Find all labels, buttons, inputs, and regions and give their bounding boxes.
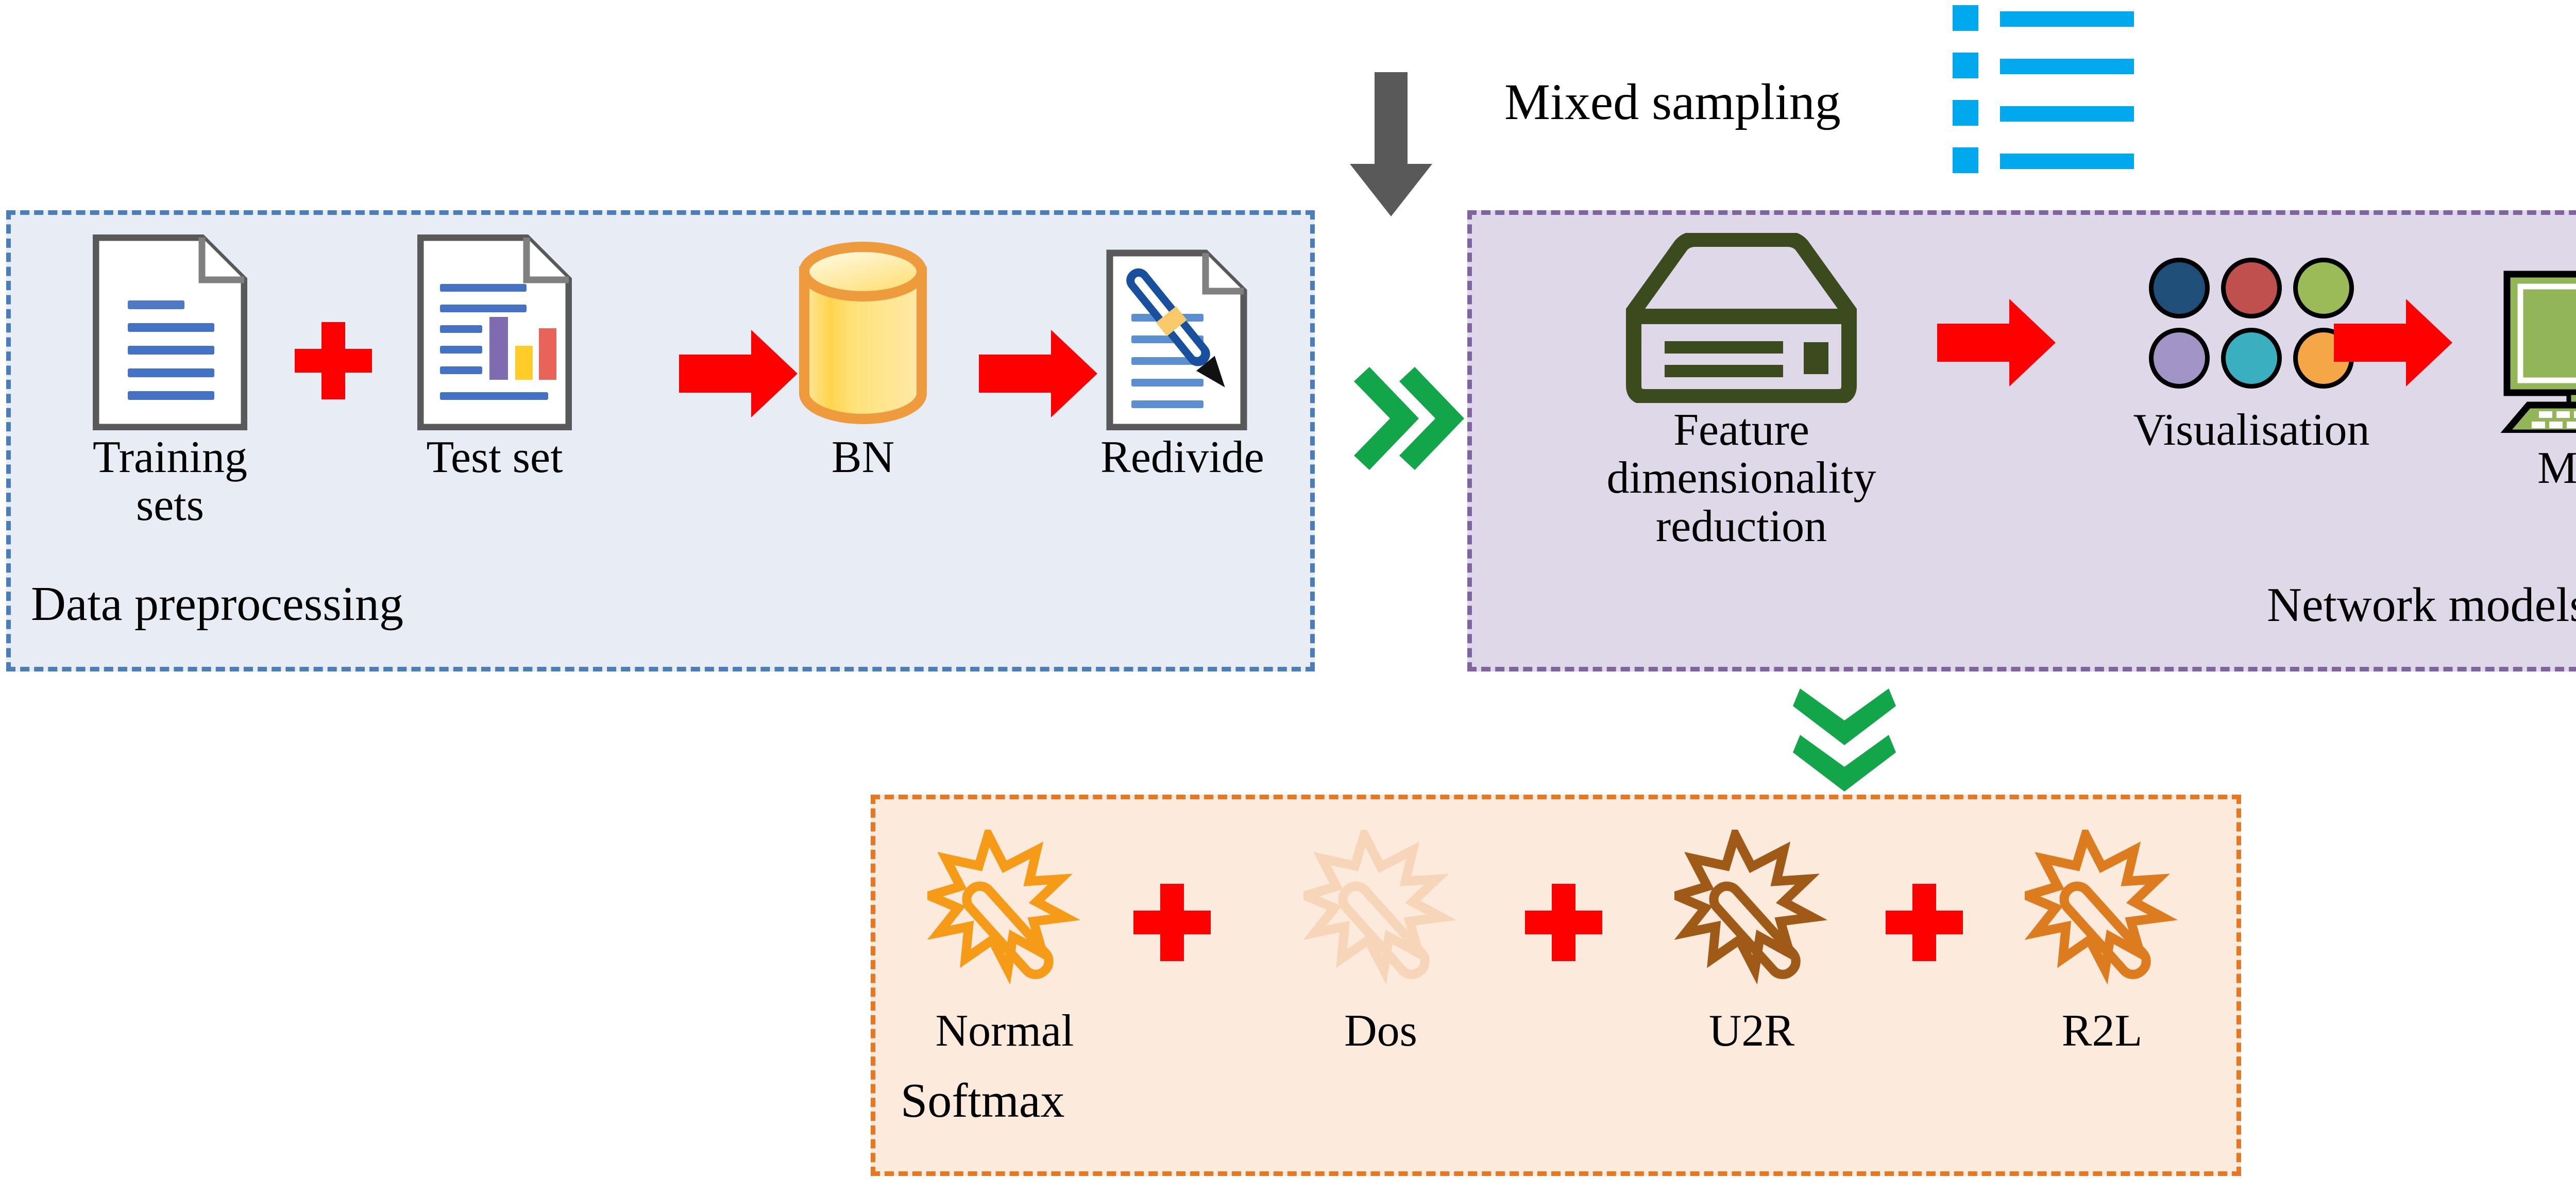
mixed-sampling-label: Mixed sampling xyxy=(1504,72,1841,131)
figure-canvas: Mixed sampling Tr xyxy=(0,0,2576,1193)
magic-wand-icon xyxy=(1674,830,1829,984)
document-lines-icon xyxy=(93,234,247,430)
node-caption: Model xyxy=(2537,444,2576,492)
desktop-computer-icon xyxy=(2478,232,2576,433)
node-feature-dimensionality-reduction: Feature dimensionality reduction xyxy=(1582,233,1901,550)
down-arrow-icon xyxy=(1350,72,1432,216)
panel-label-data-preprocessing: Data preprocessing xyxy=(31,576,403,632)
node-r2l: R2L xyxy=(1994,830,2210,1055)
node-test-set: Test set xyxy=(392,234,598,481)
node-caption: BN xyxy=(832,433,894,481)
panel-label-softmax: Softmax xyxy=(901,1073,1065,1129)
circle-4 xyxy=(2149,328,2210,389)
node-redivide: Redivide xyxy=(1072,234,1293,481)
node-caption: Redivide xyxy=(1100,433,1264,481)
node-dos: Dos xyxy=(1273,830,1489,1055)
node-caption: Dos xyxy=(1344,1007,1417,1055)
magic-wand-icon xyxy=(2025,830,2179,984)
node-bn: BN xyxy=(760,234,966,481)
circle-1 xyxy=(2149,258,2210,318)
document-chart-icon xyxy=(417,234,572,430)
plus-icon xyxy=(295,322,372,399)
node-caption: Visualisation xyxy=(2133,406,2369,454)
node-caption: R2L xyxy=(2062,1007,2142,1055)
plus-icon xyxy=(1886,884,1963,961)
plus-icon xyxy=(1133,884,1211,961)
document-pen-icon xyxy=(1097,234,1267,430)
magic-wand-icon xyxy=(927,830,1082,984)
node-normal: Normal xyxy=(896,830,1113,1055)
right-arrow-icon xyxy=(2334,299,2452,387)
magic-wand-icon xyxy=(1303,830,1458,984)
double-chevron-down-icon xyxy=(1793,679,1896,793)
node-caption: Feature dimensionality reduction xyxy=(1606,406,1876,550)
double-chevron-right-icon xyxy=(1343,367,1466,470)
node-training-sets: Training sets xyxy=(67,234,273,530)
circle-2 xyxy=(2221,258,2282,318)
right-arrow-icon xyxy=(1937,299,2056,387)
node-u2r: U2R xyxy=(1643,830,1860,1055)
node-caption: Test set xyxy=(426,433,563,481)
color-circles-icon xyxy=(2149,258,2354,389)
database-cylinder-icon xyxy=(786,234,940,430)
node-model: Model xyxy=(2463,232,2576,492)
node-caption: Normal xyxy=(936,1007,1074,1055)
circle-5 xyxy=(2221,328,2282,389)
panel-label-network-models: Network models xyxy=(2267,577,2576,633)
node-caption: Training sets xyxy=(67,433,273,530)
node-caption: U2R xyxy=(1709,1007,1794,1055)
plus-icon xyxy=(1525,884,1602,961)
server-icon xyxy=(1620,233,1862,403)
bulleted-list-icon xyxy=(1953,5,2138,175)
